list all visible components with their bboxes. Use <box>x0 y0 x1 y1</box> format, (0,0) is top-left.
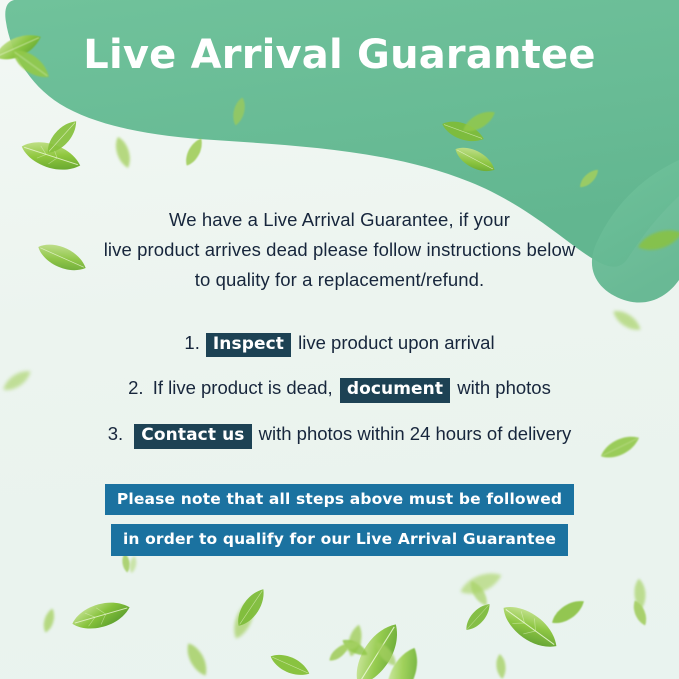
leaf-icon <box>179 134 208 170</box>
step-item-3: 3. Contact us with photos within 24 hour… <box>0 412 679 458</box>
step-item-2: 2. If live product is dead, document wit… <box>0 366 679 412</box>
leaf-icon <box>437 113 488 150</box>
leaf-icon <box>342 613 413 679</box>
leaf-icon <box>343 622 368 659</box>
intro-line-1: We have a Live Arrival Guarantee, if you… <box>58 205 621 235</box>
step-text-before: If live product is dead, <box>153 377 333 398</box>
step-text-after: live product upon arrival <box>298 332 494 353</box>
intro-paragraph: We have a Live Arrival Guarantee, if you… <box>0 205 679 295</box>
note-banner-line-1: Please note that all steps above must be… <box>105 484 574 516</box>
leaf-icon <box>374 640 429 679</box>
leaf-icon <box>265 646 314 679</box>
leaf-icon <box>226 594 263 643</box>
step-highlight-document: document <box>340 378 450 403</box>
leaf-icon <box>449 139 500 181</box>
leaf-icon <box>39 606 59 635</box>
leaf-icon <box>228 95 250 128</box>
leaf-icon <box>15 131 88 182</box>
leaf-icon <box>337 637 363 655</box>
note-banners: Please note that all steps above must be… <box>0 484 679 556</box>
leaf-icon <box>229 582 274 633</box>
leaf-icon <box>110 134 137 172</box>
leaf-icon <box>459 598 496 637</box>
leaf-icon <box>493 653 509 679</box>
intro-line-3: to quality for a replacement/refund. <box>58 265 621 295</box>
step-highlight-inspect: Inspect <box>206 333 291 358</box>
leaf-icon <box>39 113 85 160</box>
step-highlight-contact-us: Contact us <box>134 424 251 449</box>
leaf-icon <box>631 577 649 610</box>
leaf-icon <box>493 593 568 660</box>
live-arrival-guarantee-poster: Live Arrival Guarantee We have a Live Ar… <box>0 0 679 679</box>
step-number: 1. <box>184 332 199 353</box>
leaf-icon <box>127 555 139 574</box>
leaf-icon <box>325 639 353 666</box>
step-number: 3. <box>108 423 123 444</box>
leaf-icon <box>455 564 506 603</box>
leaf-icon <box>575 165 603 192</box>
note-banner-line-2: in order to qualify for our Live Arrival… <box>111 524 568 556</box>
step-number: 2. <box>128 377 143 398</box>
leaf-icon <box>67 592 135 639</box>
steps-list: 1.Inspect live product upon arrival 2. I… <box>0 321 679 458</box>
step-text-after: with photos <box>457 377 551 398</box>
leaf-icon <box>546 593 590 632</box>
step-text-after: with photos within 24 hours of delivery <box>259 423 572 444</box>
page-title: Live Arrival Guarantee <box>0 30 679 80</box>
leaf-icon <box>465 577 494 610</box>
leaf-icon <box>338 634 371 662</box>
leaf-icon <box>180 638 215 679</box>
step-item-1: 1.Inspect live product upon arrival <box>0 321 679 367</box>
leaf-icon <box>628 597 651 628</box>
content-area: We have a Live Arrival Guarantee, if you… <box>0 205 679 556</box>
leaf-icon <box>458 104 500 139</box>
leaf-icon <box>370 637 403 672</box>
intro-line-2: live product arrives dead please follow … <box>58 235 621 265</box>
